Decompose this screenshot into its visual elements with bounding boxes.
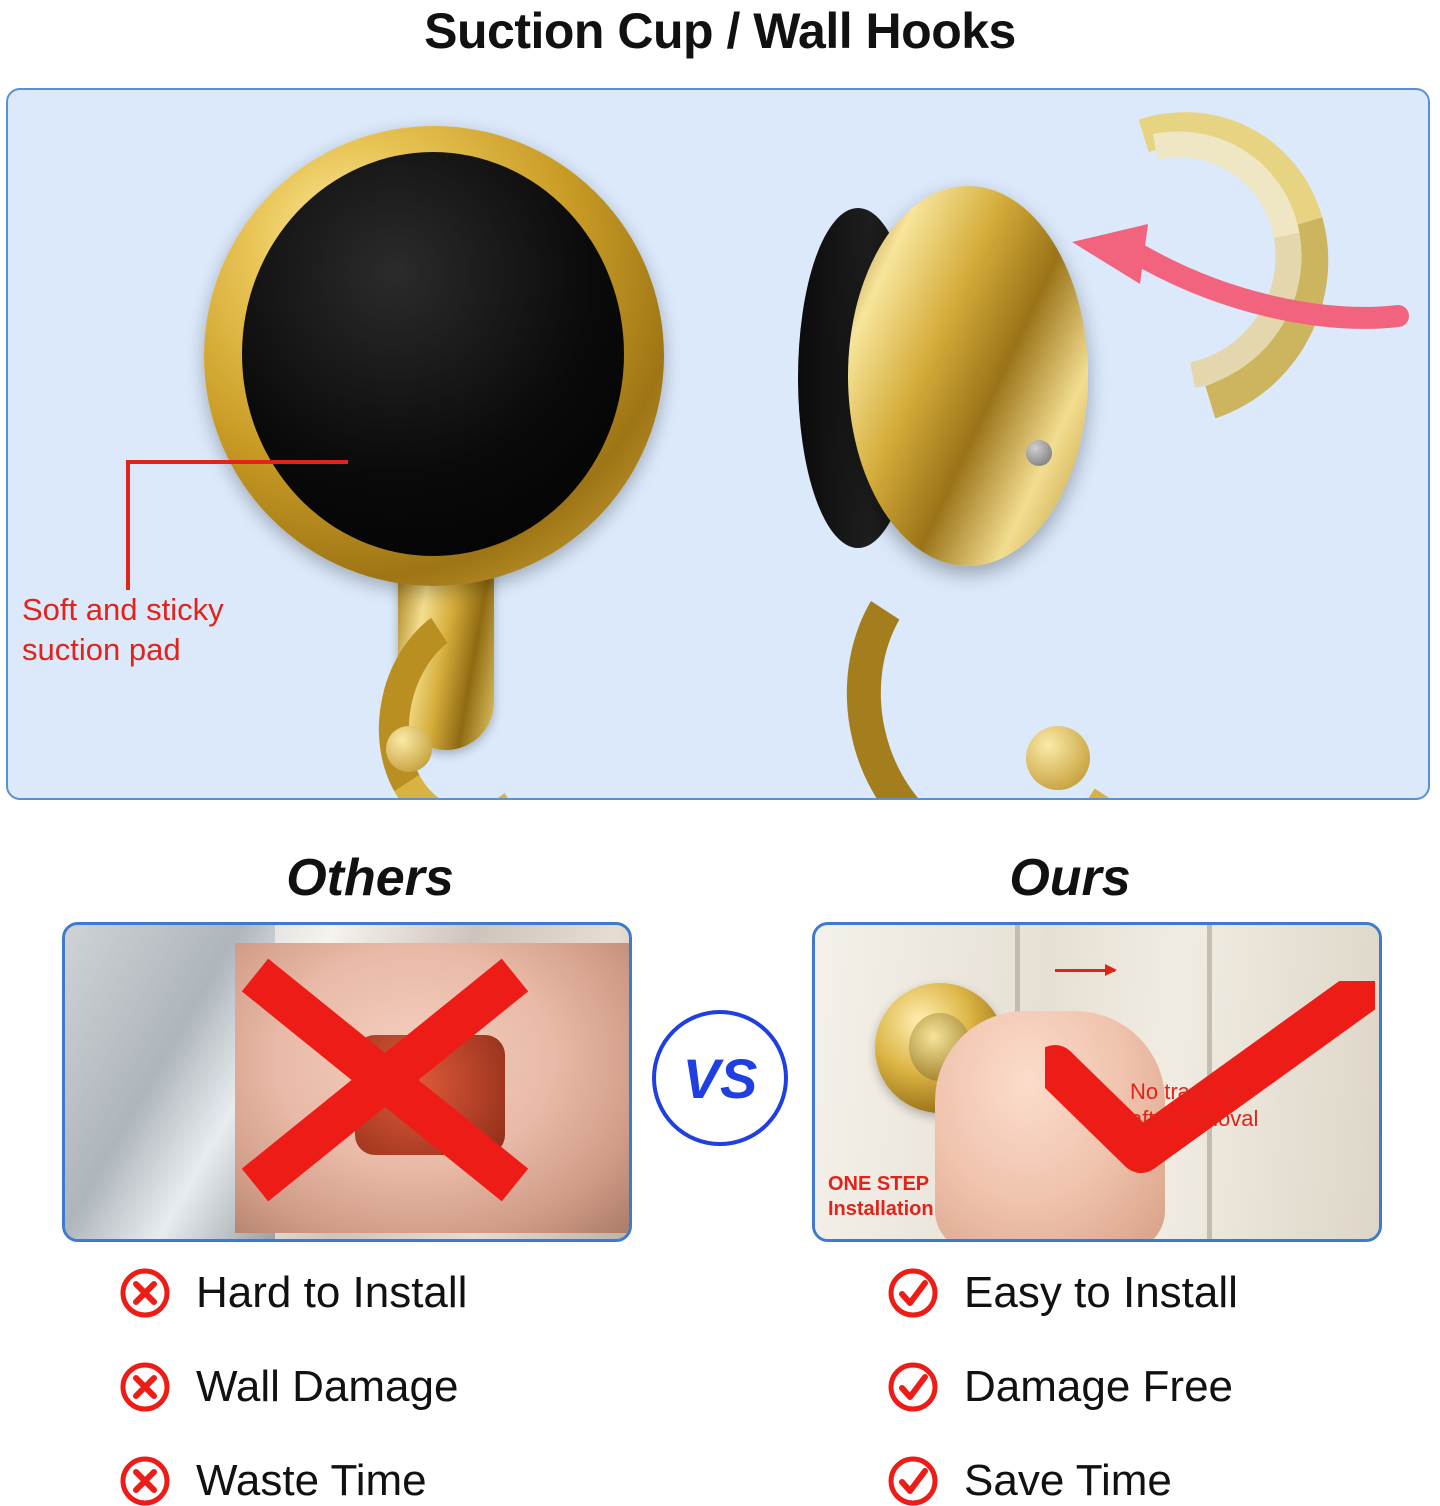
others-feature-label-1: Hard to Install	[196, 1268, 467, 1318]
cross-circle-icon	[120, 1268, 170, 1318]
others-photo	[62, 922, 632, 1242]
ours-feature-row-3: Save Time	[888, 1456, 1172, 1506]
no-trace-line-1: No trace left	[1130, 1078, 1350, 1105]
vs-badge: VS	[652, 1010, 788, 1146]
one-step-install-note: ONE STEP Installation	[828, 1172, 1008, 1222]
page-title: Suction Cup / Wall Hooks	[0, 2, 1440, 60]
others-feature-row-1: Hard to Install	[120, 1268, 467, 1318]
suction-pad-callout: Soft and sticky suction pad	[22, 590, 322, 670]
one-step-line-2: Installation	[828, 1197, 1008, 1222]
no-trace-line-2: after removal	[1130, 1105, 1350, 1132]
check-circle-icon	[888, 1268, 938, 1318]
direction-arrow-1	[1055, 969, 1115, 972]
ours-feature-label-2: Damage Free	[964, 1362, 1233, 1412]
red-cross-mark-icon	[235, 955, 535, 1205]
cross-circle-icon	[120, 1362, 170, 1412]
ours-feature-label-1: Easy to Install	[964, 1268, 1238, 1318]
one-step-line-1: ONE STEP	[828, 1172, 1008, 1197]
others-heading: Others	[60, 848, 680, 908]
callout-line-1: Soft and sticky	[22, 590, 322, 630]
cross-circle-icon	[120, 1456, 170, 1506]
ours-feature-row-2: Damage Free	[888, 1362, 1233, 1412]
side-pivot-screw	[1026, 440, 1052, 466]
hero-product-panel: Soft and sticky suction pad	[6, 88, 1430, 800]
check-circle-icon	[888, 1362, 938, 1412]
others-feature-label-3: Waste Time	[196, 1456, 427, 1506]
pink-curved-arrow-icon	[1028, 220, 1418, 340]
no-trace-note: No trace left after removal	[1130, 1078, 1350, 1132]
callout-leader-line	[98, 440, 358, 600]
side-hook-tip	[1026, 726, 1090, 790]
others-feature-row-2: Wall Damage	[120, 1362, 458, 1412]
others-feature-row-3: Waste Time	[120, 1456, 427, 1506]
ours-heading: Ours	[760, 848, 1380, 908]
callout-line-2: suction pad	[22, 630, 322, 670]
front-hook-tip	[386, 726, 432, 772]
front-hook-curve	[357, 581, 595, 800]
check-circle-icon	[888, 1456, 938, 1506]
others-feature-label-2: Wall Damage	[196, 1362, 458, 1412]
ours-feature-row-1: Easy to Install	[888, 1268, 1238, 1318]
ours-feature-label-3: Save Time	[964, 1456, 1172, 1506]
